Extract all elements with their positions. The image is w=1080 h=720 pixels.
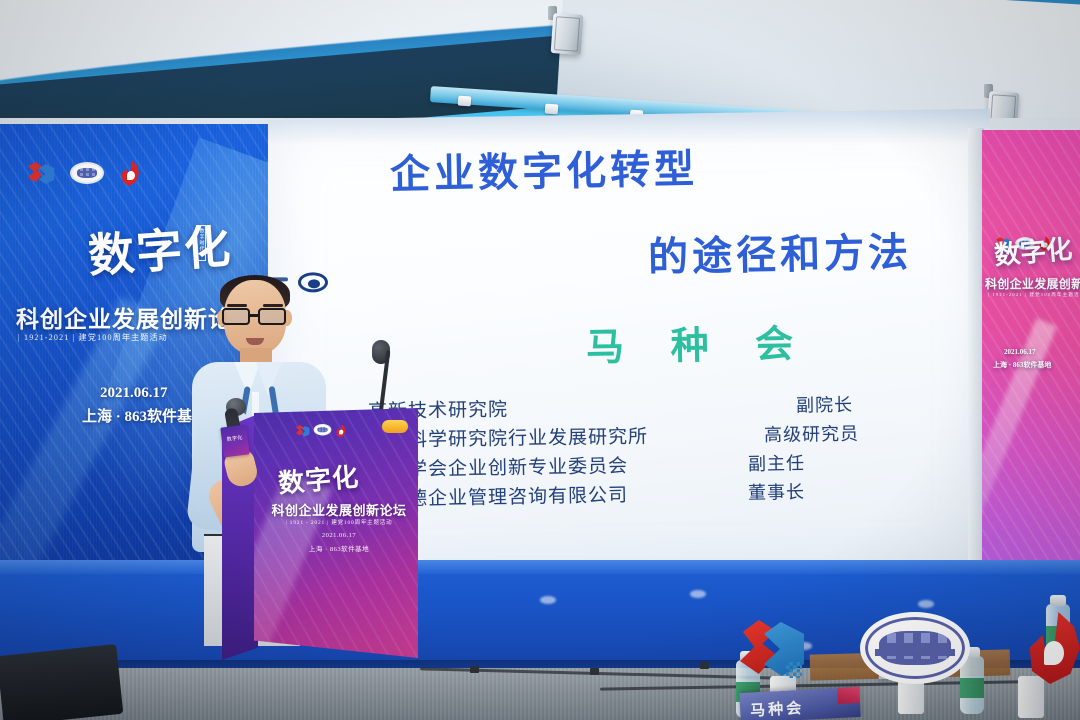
credential-title: 副主任 xyxy=(748,449,805,476)
slide-speaker-name: 马 种 会 xyxy=(586,312,812,371)
podium-calligraphy: 数字化 xyxy=(277,457,361,501)
oval-grid-icon xyxy=(860,612,970,684)
cable-clip-1 xyxy=(470,666,479,673)
podium-date: 2021.06.17 xyxy=(266,532,412,539)
backdrop-left-seal: 数字时代 xyxy=(196,225,206,261)
credential-organization: 管理科学研究院行业发展研究所 xyxy=(368,420,738,452)
backdrop-right-date: 2021.06.17 xyxy=(1004,348,1036,356)
podium: 数字化 科创企业发展创新论坛 | 1921 - 2021 | 建党100周年主题… xyxy=(222,408,418,666)
backdrop-right-forum-name: 科创企业发展创新论坛 xyxy=(985,275,1080,292)
flame-icon xyxy=(336,424,347,438)
truss-light-2 xyxy=(545,104,559,115)
s-mark-icon xyxy=(296,424,310,438)
credential-title: 高级研究员 xyxy=(764,420,859,447)
slide-credentials-table: 高新技术研究院 副院长 管理科学研究院行业发展研究所 高级研究员 创造学会企业创… xyxy=(368,392,968,508)
s-mark-icon xyxy=(740,616,804,680)
name-card: 马种会 xyxy=(739,687,860,720)
podium-front-panel: 数字化 科创企业发展创新论坛 | 1921 - 2021 | 建党100周年主题… xyxy=(254,408,418,658)
podium-logo-row xyxy=(296,424,347,438)
oval-grid-icon xyxy=(314,424,332,435)
podium-forum-name: 科创企业发展创新论坛 xyxy=(266,500,412,519)
backdrop-right-calligraphy: 数字化 xyxy=(993,229,1074,273)
credential-title: 副院长 xyxy=(796,391,853,418)
stage-floor-lip xyxy=(0,560,1080,574)
foreground-logo-row xyxy=(740,612,1080,684)
slide-title-line-2: 的途径和方法 xyxy=(647,220,912,283)
backdrop-left-date: 2021.06.17 xyxy=(100,385,168,402)
backdrop-panel-right xyxy=(982,130,1080,585)
stage-floor-reflection-2 xyxy=(690,590,706,598)
podium-gold-badge xyxy=(382,420,408,433)
cable-clip-3 xyxy=(700,662,709,669)
cable-clip-2 xyxy=(590,668,599,675)
credential-organization: 创造学会企业创新专业委员会 xyxy=(368,449,738,482)
stage-floor-reflection-3 xyxy=(918,600,934,608)
name-card-label: 马种会 xyxy=(750,697,805,720)
oval-grid-icon xyxy=(70,162,104,184)
backdrop-right-location: 上海 · 863软件基地 xyxy=(993,360,1051,370)
speaker-eyebrow-left xyxy=(227,304,247,307)
slide-title-line-1: 企业数字化转型 xyxy=(389,136,698,200)
wall-speaker-left xyxy=(551,13,584,55)
podium-anniversary-tag: | 1921 - 2021 | 建党100周年主题活动 xyxy=(266,518,412,526)
truss-light-1 xyxy=(458,96,472,107)
flame-icon xyxy=(120,160,142,186)
backdrop-left-logo-row xyxy=(28,160,142,186)
flame-icon xyxy=(1026,612,1080,684)
microphone-flag: 数字化 xyxy=(220,425,249,458)
s-mark-icon xyxy=(28,160,54,186)
glasses-icon xyxy=(220,308,290,325)
speaker-eyebrow-right xyxy=(263,304,283,307)
credential-organization: 邦尔德企业管理咨询有限公司 xyxy=(368,478,738,511)
conference-stage-photo: 数字化 数字时代 科创企业发展创新论坛 | 1921-2021 | 建党100周… xyxy=(0,0,1080,720)
backdrop-left-anniversary-tag: | 1921-2021 | 建党100周年主题活动 xyxy=(18,332,168,343)
stage-floor-reflection-1 xyxy=(540,596,556,604)
backdrop-right-anniversary-tag: | 1921-2021 | 建党100周年主题活动 xyxy=(988,292,1080,298)
microphone-flag-label: 数字化 xyxy=(224,434,245,443)
credential-title: 董事长 xyxy=(748,478,805,505)
backdrop-left-calligraphy: 数字化 xyxy=(86,210,234,286)
podium-location: 上海 · 863软件基地 xyxy=(266,543,412,553)
stage-monitor xyxy=(0,644,123,720)
credential-organization: 高新技术研究院 xyxy=(368,391,738,423)
